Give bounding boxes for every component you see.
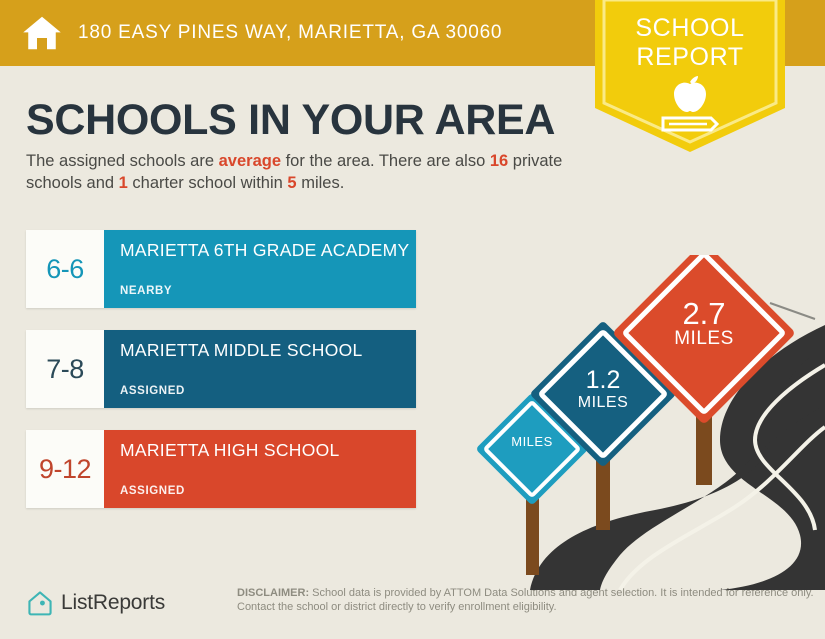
home-icon — [22, 13, 62, 53]
disclaimer-label: DISCLAIMER: — [237, 587, 309, 599]
status-badge: NEARBY — [120, 285, 172, 297]
subtitle: The assigned schools are average for the… — [26, 150, 586, 194]
subtitle-highlight-radius: 5 — [287, 174, 296, 192]
grade-range-box: 7-8 — [26, 330, 104, 408]
subtitle-part-5: miles. — [297, 174, 345, 192]
school-info-bar: MARIETTA HIGH SCHOOL ASSIGNED — [104, 430, 416, 508]
listreports-logo[interactable]: ListReports — [27, 590, 165, 616]
school-list: 6-6 MARIETTA 6TH GRADE ACADEMY NEARBY 7-… — [26, 230, 416, 530]
school-name: MARIETTA MIDDLE SCHOOL — [120, 340, 416, 360]
subtitle-highlight-charter-count: 1 — [119, 174, 128, 192]
listreports-house-icon — [27, 590, 53, 616]
school-name: MARIETTA 6TH GRADE ACADEMY — [120, 240, 416, 260]
disclaimer-body: School data is provided by ATTOM Data So… — [237, 587, 814, 613]
grade-range: 9-12 — [39, 454, 91, 485]
subtitle-part-1: The assigned schools are — [26, 152, 219, 170]
grade-range: 6-6 — [46, 254, 84, 285]
status-badge: ASSIGNED — [120, 385, 185, 397]
badge-shape — [595, 0, 785, 152]
subtitle-highlight-average: average — [219, 152, 281, 170]
school-card[interactable]: 6-6 MARIETTA 6TH GRADE ACADEMY NEARBY — [26, 230, 416, 308]
school-card[interactable]: 9-12 MARIETTA HIGH SCHOOL ASSIGNED — [26, 430, 416, 508]
header-address: 180 EASY PINES WAY, MARIETTA, GA 30060 — [78, 22, 502, 44]
page-title: SCHOOLS IN YOUR AREA — [26, 96, 555, 144]
subtitle-highlight-private-count: 16 — [490, 152, 508, 170]
school-report-badge: SCHOOL REPORT — [595, 0, 785, 152]
school-card[interactable]: 7-8 MARIETTA MIDDLE SCHOOL ASSIGNED — [26, 330, 416, 408]
school-name: MARIETTA HIGH SCHOOL — [120, 440, 416, 460]
brand-name: ListReports — [61, 591, 165, 615]
distance-signs-illustration: MILES 1.2 MILES 2.7 MILES — [470, 255, 825, 590]
grade-range: 7-8 — [46, 354, 84, 385]
disclaimer-text: DISCLAIMER: School data is provided by A… — [237, 586, 817, 614]
school-info-bar: MARIETTA MIDDLE SCHOOL ASSIGNED — [104, 330, 416, 408]
grade-range-box: 6-6 — [26, 230, 104, 308]
status-badge: ASSIGNED — [120, 485, 185, 497]
school-info-bar: MARIETTA 6TH GRADE ACADEMY NEARBY — [104, 230, 416, 308]
road-scene — [470, 255, 825, 590]
subtitle-part-4: charter school within — [128, 174, 288, 192]
grade-range-box: 9-12 — [26, 430, 104, 508]
subtitle-part-2: for the area. There are also — [281, 152, 490, 170]
